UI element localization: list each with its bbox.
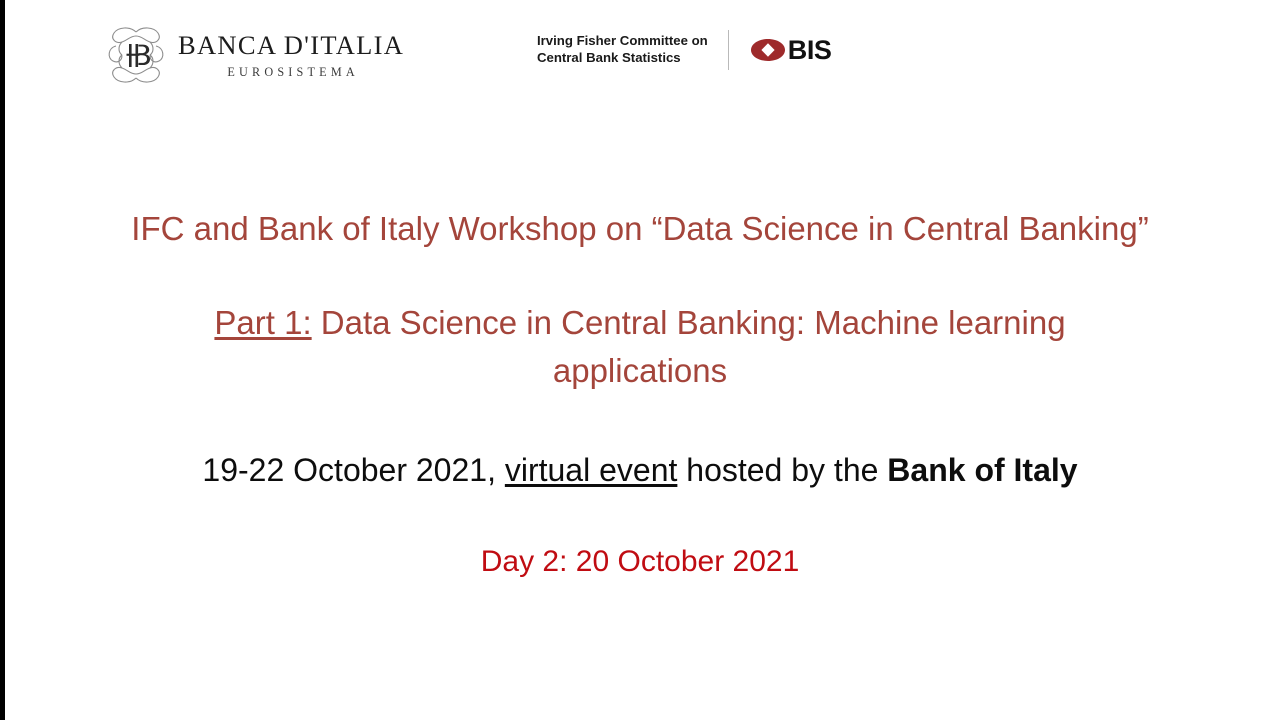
day-line: Day 2: 20 October 2021: [0, 544, 1280, 580]
logo-header-row: BANCA D'ITALIA EUROSISTEMA Irving Fisher…: [0, 22, 1280, 92]
bis-logo: BIS: [750, 37, 832, 64]
slide-body: IFC and Bank of Italy Workshop on “Data …: [0, 210, 1280, 580]
part-label: Part 1:: [214, 304, 311, 341]
part-line: Part 1: Data Science in Central Banking:…: [0, 299, 1280, 396]
virtual-event-text: virtual event: [505, 452, 678, 488]
bank-subtitle-text: EUROSISTEMA: [223, 65, 359, 80]
bis-text: BIS: [788, 37, 832, 64]
letterbox-bar-left: [0, 0, 5, 720]
banca-ditalia-wordmark: BANCA D'ITALIA EUROSISTEMA: [178, 30, 404, 81]
ifc-line-2: Central Bank Statistics: [537, 50, 681, 65]
presentation-slide: BANCA D'ITALIA EUROSISTEMA Irving Fisher…: [0, 0, 1280, 720]
workshop-title: IFC and Bank of Italy Workshop on “Data …: [0, 210, 1280, 249]
ifc-bis-logo-group: Irving Fisher Committee on Central Bank …: [537, 30, 832, 70]
banca-ditalia-logo: BANCA D'ITALIA EUROSISTEMA: [104, 24, 404, 86]
logo-divider: [728, 30, 729, 70]
ifc-committee-name: Irving Fisher Committee on Central Bank …: [537, 33, 708, 67]
date-venue-line: 19-22 October 2021, virtual event hosted…: [0, 451, 1280, 489]
date-range-text: 19-22 October 2021,: [202, 452, 504, 488]
ifc-line-1: Irving Fisher Committee on: [537, 33, 708, 48]
host-organization-text: Bank of Italy: [887, 452, 1077, 488]
banca-ditalia-monogram-icon: [104, 24, 168, 86]
bank-name-text: BANCA D'ITALIA: [178, 32, 404, 60]
bis-diamond-icon: [750, 38, 786, 62]
hosted-by-text: hosted by the: [677, 452, 887, 488]
part-description: Data Science in Central Banking: Machine…: [312, 304, 1066, 390]
